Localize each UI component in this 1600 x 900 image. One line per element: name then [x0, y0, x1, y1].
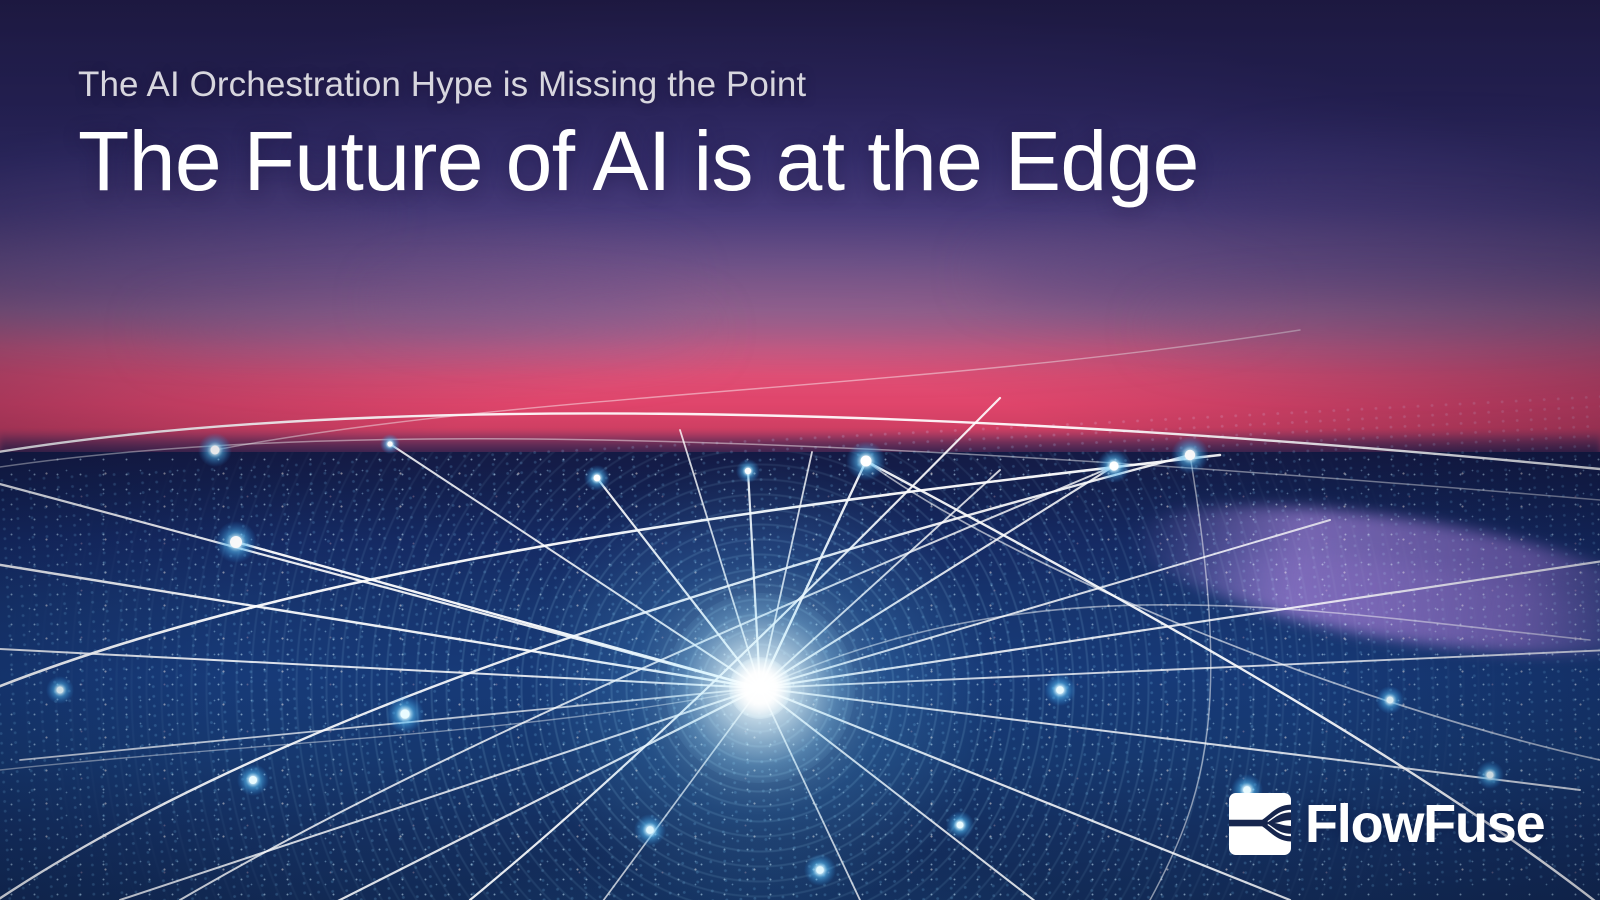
hero-eyebrow: The AI Orchestration Hype is Missing the…: [78, 64, 1518, 105]
flowfuse-logo-mark-icon: [1229, 793, 1291, 855]
hero-copy: The AI Orchestration Hype is Missing the…: [78, 64, 1518, 206]
flowfuse-wordmark: FlowFuse: [1305, 797, 1544, 851]
hero-headline: The Future of AI is at the Edge: [78, 117, 1518, 206]
flowfuse-logo[interactable]: FlowFuse: [1229, 793, 1544, 855]
hero-banner: The AI Orchestration Hype is Missing the…: [0, 0, 1600, 900]
